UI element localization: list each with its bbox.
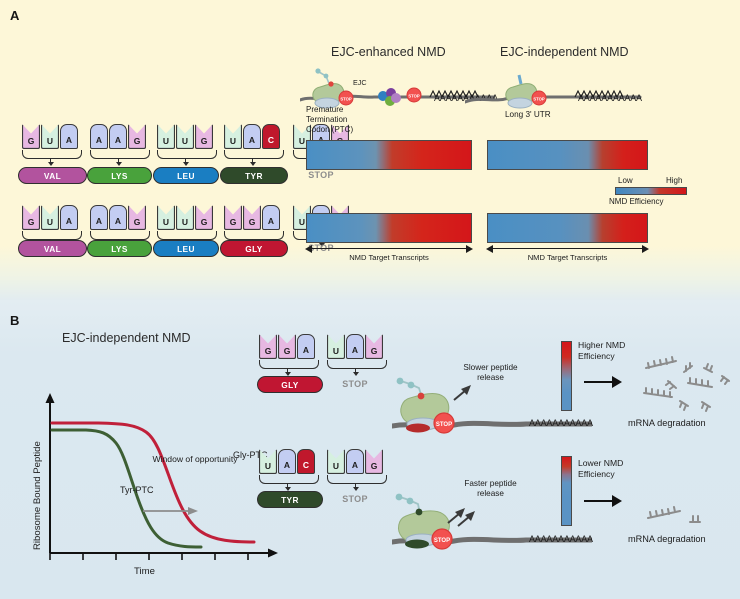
peptide-bead-dark: [416, 509, 423, 516]
codon-b2-stop: U A G: [327, 449, 383, 474]
stop-sign-normal: STOP: [532, 91, 546, 105]
codon-bracket: [90, 150, 150, 159]
window-arrow-head: [188, 507, 198, 515]
nt-G: G: [128, 124, 146, 149]
nt-G: G: [195, 124, 213, 149]
codon-a2-2: A A G: [90, 205, 146, 230]
ptc-label-line2: Termination: [306, 115, 353, 125]
mrna-degradation-label-row2: mRNA degradation: [628, 534, 706, 546]
ptc-label-line3: Codon (PTC): [306, 125, 353, 135]
release-label-line1: Slower peptide: [443, 363, 538, 373]
stop-label: STOP: [326, 376, 384, 391]
codon-b1-gly: G G A: [259, 334, 315, 359]
panel-b-letter: B: [10, 313, 19, 328]
axis-arrow-right: [642, 245, 649, 253]
mrna-fragment: [644, 388, 672, 397]
curve-label-tyr-ptc: Tyr-PTC: [120, 485, 154, 495]
nt-U: U: [224, 124, 242, 149]
amino-acid-lys: LYS: [87, 240, 152, 257]
panel-a-letter: A: [10, 8, 19, 23]
nt-U: U: [157, 205, 175, 230]
ejc-complex-icon: [378, 88, 401, 106]
ribosome-dark-base: [405, 540, 429, 549]
codon-a2-1: G U A: [22, 205, 78, 230]
nt-A: A: [346, 334, 364, 359]
axis-caption-independent: NMD Target Transcripts: [487, 253, 648, 262]
stop-sign: STOP: [434, 413, 454, 433]
heatbar-independent-bottom: [487, 213, 648, 243]
release-label-slower: Slower peptide release: [443, 363, 538, 384]
nt-A: A: [90, 205, 108, 230]
stop-sign-ptc: STOP: [339, 91, 353, 105]
svg-text:STOP: STOP: [436, 422, 452, 428]
mrna-fragment: [666, 381, 676, 389]
nascent-peptide-chain: [319, 72, 330, 86]
codon-arrow-head: [116, 162, 122, 166]
mrna-degradation-label-row1: mRNA degradation: [628, 418, 706, 430]
nt-A: A: [60, 124, 78, 149]
mrna-fragment: [702, 402, 710, 411]
heatbar-independent-top: [487, 140, 648, 170]
nt-G: G: [22, 205, 40, 230]
peptide-bead-red: [418, 393, 425, 400]
nt-C: C: [297, 449, 315, 474]
nmd-efficiency-bar-lower: [561, 456, 572, 526]
nt-U: U: [41, 124, 59, 149]
codon-a1-3: U U G: [157, 124, 213, 149]
curve-gly-ptc: [52, 423, 254, 542]
peptide-bead: [315, 68, 320, 73]
peptide-bead: [407, 498, 414, 505]
heatbar-enhanced-bottom: [306, 213, 472, 243]
legend-caption: NMD Efficiency: [609, 197, 664, 206]
axis-arrow-left: [305, 245, 312, 253]
amino-acid-tyr: TYR: [257, 491, 323, 508]
nt-G: G: [365, 334, 383, 359]
nt-U: U: [176, 124, 194, 149]
nt-G: G: [243, 205, 261, 230]
nt-G: G: [22, 124, 40, 149]
figure-root: A EJC-enhanced NMD EJC-independent NMD G…: [0, 0, 740, 599]
ejc-label: EJC: [353, 78, 367, 87]
codon-bracket: [259, 475, 319, 484]
peptide-bead: [397, 378, 404, 385]
flow-arrow-stem-row2: [584, 500, 613, 502]
nt-G: G: [224, 205, 242, 230]
ribosome-red-base: [406, 424, 430, 433]
amino-acid-lys: LYS: [87, 167, 152, 184]
nt-U: U: [176, 205, 194, 230]
codon-bracket: [157, 150, 217, 159]
axis-line-independent: [493, 248, 642, 249]
mrna-fragments-many: [640, 350, 735, 412]
polyA-label-row1: AAAAAAAAAAA: [529, 418, 593, 428]
axis-arrow-right: [466, 245, 473, 253]
codon-arrow-head: [183, 162, 189, 166]
codon-bracket: [259, 360, 319, 369]
nt-G: G: [128, 205, 146, 230]
amino-acid-leu: LEU: [153, 167, 219, 184]
svg-text:STOP: STOP: [533, 97, 545, 102]
nt-C: C: [262, 124, 280, 149]
nt-U: U: [259, 449, 277, 474]
nt-A: A: [262, 205, 280, 230]
nt-G: G: [278, 334, 296, 359]
flow-arrow-head-row1: [612, 376, 622, 388]
efficiency-line2: Efficiency: [578, 469, 623, 480]
title-ejc-independent: EJC-independent NMD: [500, 45, 629, 59]
polyA-label-row2: AAAAAAAAAAA: [529, 534, 593, 544]
codon-bracket: [157, 231, 217, 240]
title-ejc-enhanced: EJC-enhanced NMD: [331, 45, 446, 59]
peptide-bead: [396, 494, 403, 501]
release-label-line2: release: [443, 489, 538, 499]
nt-A: A: [109, 205, 127, 230]
peptide-release-chart: [38, 385, 288, 560]
ptc-label: Premature Termination Codon (PTC): [306, 105, 353, 135]
peptide-bead: [324, 74, 329, 79]
svg-text:STOP: STOP: [340, 97, 352, 102]
stop-label: STOP: [326, 491, 384, 506]
amino-acid-leu: LEU: [153, 240, 219, 257]
nmd-efficiency-label-lower: Lower NMD Efficiency: [578, 458, 623, 479]
codon-arrow-head: [48, 162, 54, 166]
stop-sign-normal: STOP: [407, 88, 421, 102]
nt-U: U: [41, 205, 59, 230]
amino-acid-val: VAL: [18, 167, 87, 184]
codon-a2-4: G G A: [224, 205, 280, 230]
chart-x-ticks: [50, 553, 248, 560]
codon-a2-3: U U G: [157, 205, 213, 230]
codon-b2-tyr: U A C: [259, 449, 315, 474]
nt-U: U: [157, 124, 175, 149]
codon-bracket: [22, 150, 82, 159]
codon-bracket: [224, 231, 284, 240]
efficiency-line1: Higher NMD: [578, 340, 625, 351]
peptide-bead: [408, 382, 415, 389]
peptide-bead-red: [328, 81, 333, 86]
mrna-fragment: [648, 507, 680, 518]
mrna-fragment: [690, 516, 700, 522]
chart-x-axis-label: Time: [134, 566, 155, 577]
nt-A: A: [297, 334, 315, 359]
codon-bracket: [22, 231, 82, 240]
codon-a1-2: A A G: [90, 124, 146, 149]
nt-A: A: [90, 124, 108, 149]
chart-y-arrowhead: [46, 393, 55, 403]
release-label-faster: Faster peptide release: [443, 479, 538, 500]
mrna-fragment: [704, 364, 712, 372]
codon-bracket: [327, 475, 387, 484]
ribosome-small-subunit: [508, 98, 532, 108]
nmd-efficiency-bar-higher: [561, 341, 572, 411]
release-label-line1: Faster peptide: [443, 479, 538, 489]
nmd-efficiency-label-higher: Higher NMD Efficiency: [578, 340, 625, 361]
flow-arrow-head-row2: [612, 495, 622, 507]
ptc-label-line1: Premature: [306, 105, 353, 115]
codon-arrow-head: [250, 162, 256, 166]
codon-b1-stop: U A G: [327, 334, 383, 359]
amino-acid-tyr: TYR: [220, 167, 288, 184]
amino-acid-val: VAL: [18, 240, 87, 257]
panel-b-title: EJC-independent NMD: [62, 331, 191, 345]
nt-A: A: [60, 205, 78, 230]
codon-bracket: [90, 231, 150, 240]
chart-x-arrowhead: [268, 549, 278, 558]
nt-G: G: [259, 334, 277, 359]
amino-acid-gly: GLY: [220, 240, 288, 257]
ejc-independent-schematic: STOP: [465, 62, 650, 112]
release-label-line2: release: [443, 373, 538, 383]
long-utr-label: Long 3' UTR: [505, 110, 551, 120]
amino-acid-gly: GLY: [257, 376, 323, 393]
window-of-opportunity-label: Window of opportunity: [150, 454, 240, 464]
legend-low-label: Low: [618, 176, 633, 185]
stop-sign: STOP: [432, 529, 452, 549]
polyA-label-independent: AAAAAAAAAAA: [578, 93, 642, 103]
nascent-peptide-chain: [519, 75, 521, 84]
svg-text:STOP: STOP: [408, 94, 420, 99]
nt-U: U: [327, 334, 345, 359]
axis-arrow-left: [486, 245, 493, 253]
nt-A: A: [243, 124, 261, 149]
mrna-fragment: [721, 376, 729, 384]
mrna-fragment: [680, 401, 688, 410]
nt-A: A: [346, 449, 364, 474]
nt-A: A: [109, 124, 127, 149]
svg-text:STOP: STOP: [434, 538, 450, 544]
legend-high-label: High: [666, 176, 682, 185]
efficiency-line1: Lower NMD: [578, 458, 623, 469]
codon-bracket: [327, 360, 387, 369]
mrna-fragment: [646, 357, 676, 368]
mrna-fragment: [688, 378, 712, 387]
axis-line-enhanced: [312, 248, 466, 249]
nt-G: G: [195, 205, 213, 230]
mrna-fragment: [684, 363, 692, 372]
codon-a1-1: G U A: [22, 124, 78, 149]
codon-a1-4: U A C: [224, 124, 280, 149]
nt-A: A: [278, 449, 296, 474]
efficiency-line2: Efficiency: [578, 351, 625, 362]
flow-arrow-stem-row1: [584, 381, 613, 383]
legend-gradient-bar: [615, 187, 687, 195]
mrna-fragments-few: [640, 490, 735, 540]
codon-bracket: [224, 150, 284, 159]
nt-U: U: [327, 449, 345, 474]
axis-caption-enhanced: NMD Target Transcripts: [306, 253, 472, 262]
nt-G: G: [365, 449, 383, 474]
heatbar-enhanced-top: [306, 140, 472, 170]
